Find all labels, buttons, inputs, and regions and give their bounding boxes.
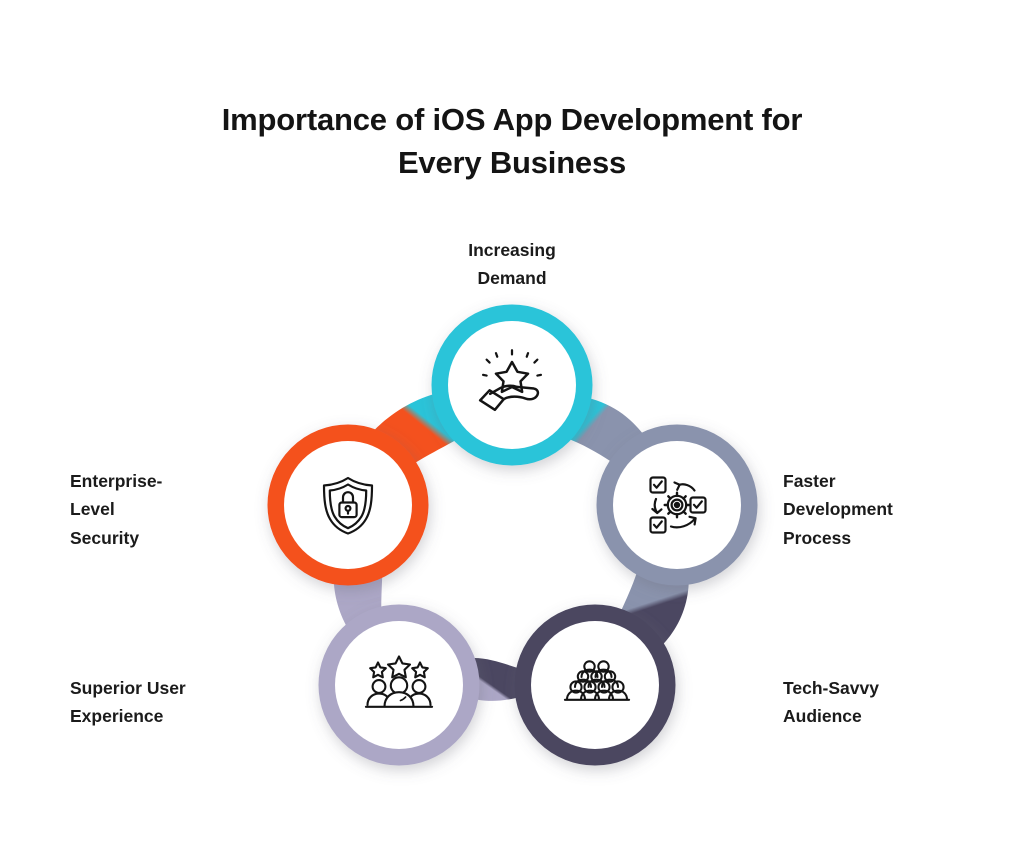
node-superior-user-experience[interactable] bbox=[327, 613, 471, 757]
node-label-faster-development-process: Faster Development Process bbox=[783, 467, 998, 552]
page-title: Importance of iOS App Development for Ev… bbox=[0, 99, 1024, 185]
infographic-canvas: Importance of iOS App Development for Ev… bbox=[0, 0, 1024, 841]
node-label-tech-savvy-audience: Tech-Savvy Audience bbox=[783, 674, 998, 731]
cycle-wheel-diagram bbox=[232, 280, 792, 800]
node-face-superior-user-experience bbox=[335, 621, 463, 749]
page-title-line-2: Every Business bbox=[0, 142, 1024, 185]
page-title-line-1: Importance of iOS App Development for bbox=[0, 99, 1024, 142]
